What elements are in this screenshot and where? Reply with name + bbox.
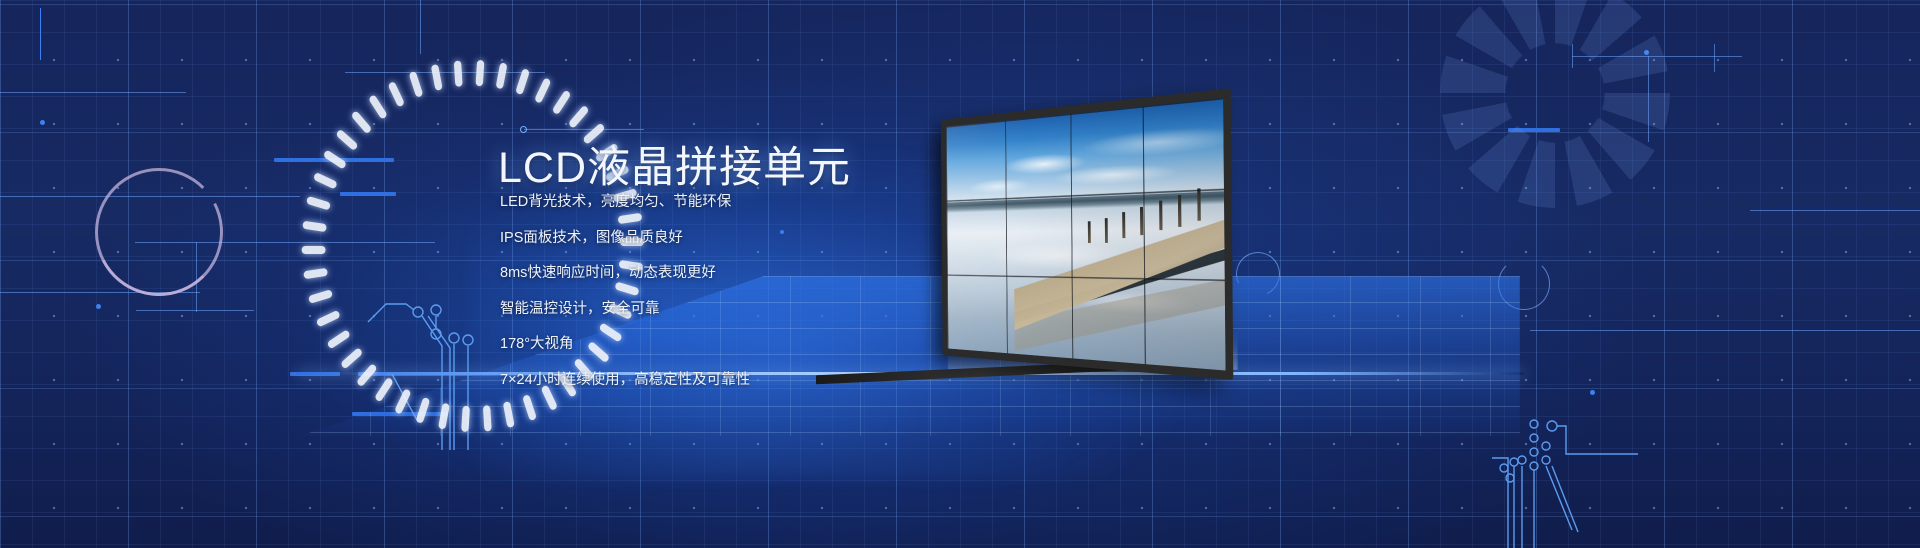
display-bezel bbox=[941, 88, 1233, 380]
video-wall-display bbox=[812, 88, 1232, 380]
screen-glare bbox=[946, 98, 1226, 371]
display-screen bbox=[946, 98, 1226, 371]
product-banner: LCD液晶拼接单元 LED背光技术，亮度均匀、节能环保 IPS面板技术，图像品质… bbox=[0, 0, 1920, 548]
page-title: LCD液晶拼接单元 bbox=[498, 133, 851, 195]
circuit-traces-right bbox=[1488, 420, 1638, 548]
